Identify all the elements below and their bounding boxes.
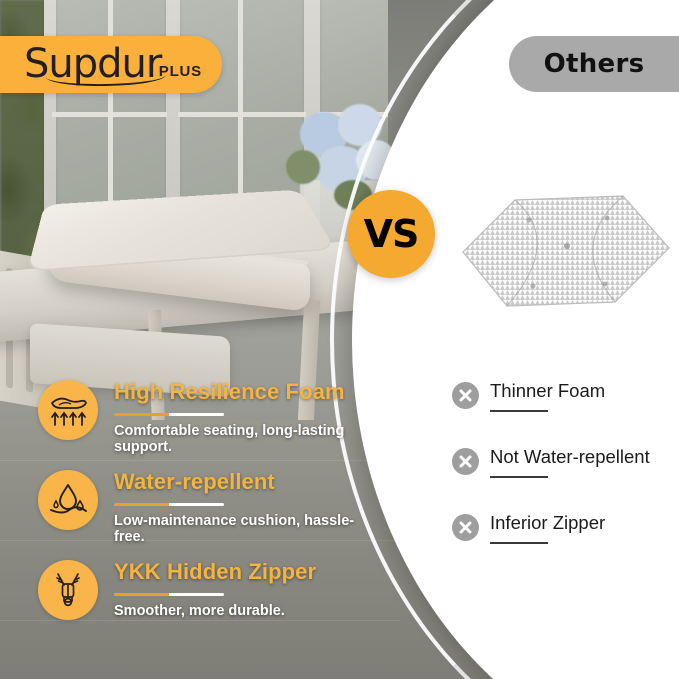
feature-item: YKK Hidden Zipper Smoother, more durable…	[30, 555, 380, 645]
feature-title: Water-repellent	[114, 469, 275, 495]
door-mullion-h1	[52, 112, 167, 117]
versus-label: VS	[364, 212, 419, 256]
product-cushion-premium	[30, 175, 340, 325]
feature-title: High Resilience Foam	[114, 379, 345, 405]
feature-item: Water-repellent Low-maintenance cushion,…	[30, 465, 380, 555]
feature-subtitle: Low-maintenance cushion, hassle-free.	[114, 513, 380, 545]
x-mark-glyph	[457, 387, 474, 404]
others-label: Others	[544, 49, 645, 79]
x-mark-glyph	[457, 519, 474, 536]
drawback-item: Inferior Zipper	[452, 510, 672, 576]
feature-item: High Resilience Foam Comfortable seating…	[30, 375, 380, 465]
drawback-divider	[490, 410, 548, 412]
brand-logo: Supdur PLUS	[0, 36, 222, 93]
brand-suffix: PLUS	[159, 63, 202, 80]
drawback-label: Thinner Foam	[490, 380, 605, 402]
infographic-canvas: Supdur PLUS Others	[0, 0, 679, 679]
others-header-pill: Others	[509, 36, 679, 92]
drawback-label: Not Water-repellent	[490, 446, 650, 468]
feature-divider	[114, 503, 224, 506]
feature-subtitle: Smoother, more durable.	[114, 603, 285, 619]
drawback-divider	[490, 542, 548, 544]
water-repellent-glyph	[47, 479, 89, 521]
x-circle-icon	[452, 514, 479, 541]
door-mullion-h2	[178, 112, 306, 117]
feature-list: High Resilience Foam Comfortable seating…	[30, 375, 380, 645]
x-circle-icon	[452, 382, 479, 409]
drawback-item: Thinner Foam	[452, 378, 672, 444]
feature-divider	[114, 593, 224, 596]
zipper-icon	[38, 560, 98, 620]
feature-subtitle: Comfortable seating, long-lasting suppor…	[114, 423, 380, 455]
hand-pressing-foam-icon	[38, 380, 98, 440]
competitor-cushion-illustration	[455, 190, 675, 310]
drawback-list: Thinner Foam Not Water-repellent	[452, 378, 672, 576]
x-circle-icon	[452, 448, 479, 475]
feature-divider	[114, 413, 224, 416]
drawback-divider	[490, 476, 548, 478]
ykk-zipper-glyph	[47, 569, 89, 611]
product-cushion-competitor	[455, 190, 675, 310]
drawback-label: Inferior Zipper	[490, 512, 605, 534]
feature-title: YKK Hidden Zipper	[114, 559, 316, 585]
foam-resilience-glyph	[47, 389, 89, 431]
brand-logo-mark: Supdur PLUS	[24, 42, 196, 88]
drawback-item: Not Water-repellent	[452, 444, 672, 510]
x-mark-glyph	[457, 453, 474, 470]
versus-badge: VS	[347, 190, 435, 278]
water-droplet-icon	[38, 470, 98, 530]
